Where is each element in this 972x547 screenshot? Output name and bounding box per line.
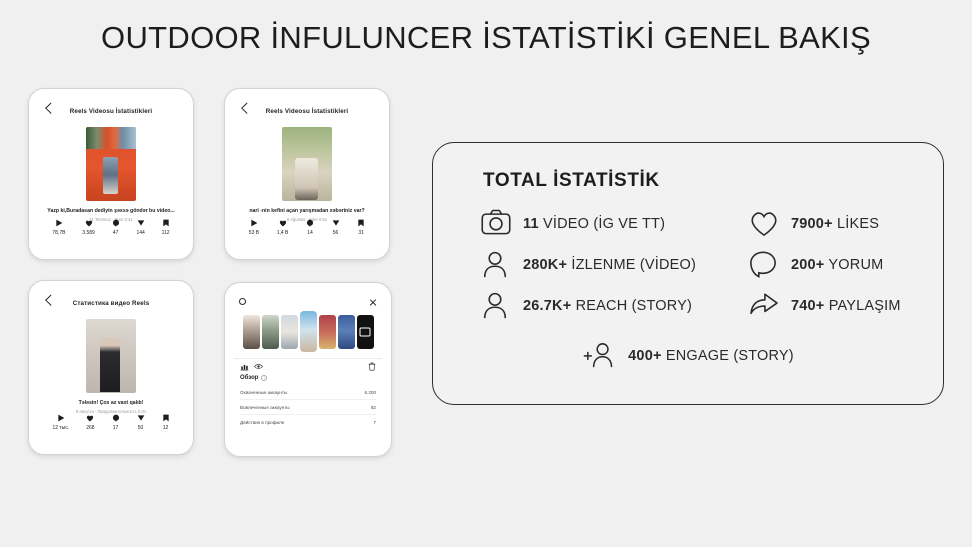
stat-comments-text: 200+ YORUM	[791, 257, 883, 273]
stat-saves: 112	[162, 219, 170, 236]
stat-shares: 56	[332, 219, 340, 236]
metric-label: Охваченные аккаунты	[240, 390, 287, 395]
reels-stats-card-3[interactable]: Статистика видео Reels Tələsin! Çox az v…	[28, 280, 194, 455]
story-thumb-3[interactable]	[281, 315, 298, 349]
phone-screen: Обзор i Охваченные аккаунты 6.200 Вовлеч…	[234, 295, 382, 444]
card-header: Reels Videosu İstatistikleri	[234, 101, 380, 121]
stat-value: 17	[113, 425, 119, 431]
heart-icon	[279, 219, 287, 227]
share-icon	[749, 291, 779, 321]
video-thumbnail[interactable]	[282, 127, 332, 201]
stats-row: 53 B 1,4 B 14	[234, 219, 380, 236]
total-bottom-row: 400+ ENGAGE (STORY)	[433, 341, 943, 371]
close-icon[interactable]	[369, 298, 377, 306]
play-icon	[55, 219, 63, 227]
stat-value: 3.589	[82, 230, 95, 236]
slide-root: OUTDOOR İNFULUNCER İSTATİSTİKİ GENEL BAK…	[0, 0, 972, 547]
stat-likes: 1,4 B	[277, 219, 289, 236]
stat-value: 78,7B	[52, 230, 65, 236]
play-icon	[57, 414, 65, 422]
metric-value: 7	[373, 420, 376, 425]
person-icon	[481, 291, 511, 321]
stats-row: 78,7B 3.589 47	[38, 219, 184, 236]
stat-shares: 144	[136, 219, 144, 236]
total-panel-title: TOTAL İSTATİSTİK	[483, 170, 660, 192]
stat-saves: 31	[357, 219, 365, 236]
video-thumbnail-wrap	[38, 127, 184, 201]
video-thumbnail-wrap	[38, 319, 184, 393]
stat-reach-text: 26.7K+ REACH (STORY)	[523, 298, 692, 314]
send-icon	[137, 414, 145, 422]
stat-video-text: 11 VİDEO (İG VE TT)	[523, 216, 665, 232]
stat-value: 12 тыс.	[52, 425, 69, 431]
stat-comments: 14	[306, 219, 314, 236]
story-section-label: Обзор	[240, 375, 258, 381]
card-header-title: Статистика видео Reels	[38, 300, 184, 307]
page-title: OUTDOOR İNFULUNCER İSTATİSTİKİ GENEL BAK…	[0, 20, 972, 56]
send-icon	[332, 219, 340, 227]
add-person-icon	[582, 341, 616, 371]
info-icon[interactable]: i	[261, 375, 267, 381]
stat-views: 280K+ İZLENME (VİDEO)	[481, 250, 749, 280]
stat-comments: 17	[112, 414, 120, 431]
stat-plays: 78,7B	[52, 219, 65, 236]
stat-reach: 26.7K+ REACH (STORY)	[481, 291, 749, 321]
heart-icon	[749, 209, 779, 239]
stat-value: 47	[113, 230, 119, 236]
total-stats-grid: 11 VİDEO (İG VE TT) 7900+ LİKES	[481, 209, 921, 321]
story-section-header: Обзор i	[234, 375, 382, 381]
stat-value: 31	[358, 230, 364, 236]
comment-icon	[112, 219, 120, 227]
stat-value: 268	[86, 425, 94, 431]
bookmark-icon	[357, 219, 365, 227]
stat-value: 144	[136, 230, 144, 236]
video-caption: nari -nin kefini açan yarışmadan xəbərin…	[234, 208, 380, 215]
trash-icon[interactable]	[368, 362, 376, 371]
stat-likes: 268	[86, 414, 94, 431]
story-thumb-5[interactable]	[319, 315, 336, 349]
total-statistics-panel: TOTAL İSTATİSTİK 11 VİDEO (İG VE TT)	[432, 142, 944, 405]
metric-value: 6.200	[365, 390, 377, 395]
stat-plays: 53 B	[249, 219, 259, 236]
metric-label: Действия в профиле	[240, 420, 284, 425]
send-icon	[137, 219, 145, 227]
stat-shares: 740+ PAYLAŞIM	[749, 291, 921, 321]
stat-views-text: 280K+ İZLENME (VİDEO)	[523, 257, 696, 273]
stat-engage: 400+ ENGAGE (STORY)	[582, 341, 794, 371]
video-caption: Tələsin! Çox az vaxt qalıb!	[38, 400, 184, 407]
stat-value: 12	[163, 425, 169, 431]
comment-icon	[112, 414, 120, 422]
stat-value: 14	[307, 230, 313, 236]
play-icon	[250, 219, 258, 227]
video-thumbnail[interactable]	[86, 319, 136, 393]
story-metric-row: Действия в профиле 7	[240, 415, 376, 429]
eye-icon[interactable]	[254, 363, 263, 370]
card-header: Статистика видео Reels	[38, 293, 184, 313]
stats-row: 12 тыс. 268 17	[38, 414, 184, 431]
reels-stats-card-1[interactable]: Reels Videosu İstatistikleri Yazp ki,Bur…	[28, 88, 194, 260]
stat-likes: 3.589	[82, 219, 95, 236]
record-circle-icon[interactable]	[239, 298, 246, 305]
stat-value: 53 B	[249, 230, 259, 236]
stat-comments: 200+ YORUM	[749, 250, 921, 280]
bar-chart-icon[interactable]	[240, 362, 249, 371]
stat-video-count: 11 VİDEO (İG VE TT)	[481, 209, 749, 239]
heart-icon	[86, 414, 94, 422]
stat-value: 50	[138, 425, 144, 431]
camera-icon	[481, 209, 511, 239]
metric-label: Вовлеченные аккаунты	[240, 405, 290, 410]
story-toolbar	[234, 295, 382, 310]
stat-comments: 47	[112, 219, 120, 236]
video-thumbnail-wrap	[234, 127, 380, 201]
video-subtitle: 9 августа · Продолжительность 0:41	[38, 409, 184, 414]
phone-screen: Reels Videosu İstatistikleri Yazp ki,Bur…	[38, 101, 184, 247]
story-thumb-1[interactable]	[243, 315, 260, 349]
story-thumb-2[interactable]	[262, 315, 279, 349]
stat-likes: 7900+ LİKES	[749, 209, 921, 239]
heart-icon	[85, 219, 93, 227]
story-thumb-7-camera[interactable]	[357, 315, 374, 349]
metric-value: 82	[371, 405, 376, 410]
stat-value: 1,4 B	[277, 230, 289, 236]
story-metrics-list: Охваченные аккаунты 6.200 Вовлеченные ак…	[234, 385, 382, 429]
bookmark-icon	[162, 414, 170, 422]
phone-screen: Статистика видео Reels Tələsin! Çox az v…	[38, 293, 184, 442]
story-metric-row: Вовлеченные аккаунты 82	[240, 400, 376, 415]
video-thumbnail[interactable]	[86, 127, 136, 201]
stat-likes-text: 7900+ LİKES	[791, 216, 879, 232]
stat-shares: 50	[137, 414, 145, 431]
stat-engage-text: 400+ ENGAGE (STORY)	[628, 348, 794, 364]
stat-value: 112	[162, 230, 170, 236]
comment-icon	[749, 250, 779, 280]
story-thumb-6[interactable]	[338, 315, 355, 349]
card-header-title: Reels Videosu İstatistikleri	[38, 108, 184, 115]
story-thumb-4-selected[interactable]	[300, 311, 317, 352]
story-metric-row: Охваченные аккаунты 6.200	[240, 385, 376, 400]
card-header-title: Reels Videosu İstatistikleri	[234, 108, 380, 115]
stat-plays: 12 тыс.	[52, 414, 69, 431]
person-icon	[481, 250, 511, 280]
story-insights-card[interactable]: Обзор i Охваченные аккаунты 6.200 Вовлеч…	[224, 282, 392, 457]
stat-saves: 12	[162, 414, 170, 431]
story-thumbnail-strip	[234, 311, 382, 352]
card-header: Reels Videosu İstatistikleri	[38, 101, 184, 121]
video-caption: Yazp ki,Buradasan dediyin şəxsə göndər b…	[38, 208, 184, 215]
bookmark-icon	[162, 219, 170, 227]
stat-shares-text: 740+ PAYLAŞIM	[791, 298, 901, 314]
reels-stats-card-2[interactable]: Reels Videosu İstatistikleri nari -nin k…	[224, 88, 390, 260]
comment-icon	[306, 219, 314, 227]
story-actions-row	[234, 358, 382, 374]
stat-value: 56	[333, 230, 339, 236]
phone-screen: Reels Videosu İstatistikleri nari -nin k…	[234, 101, 380, 247]
